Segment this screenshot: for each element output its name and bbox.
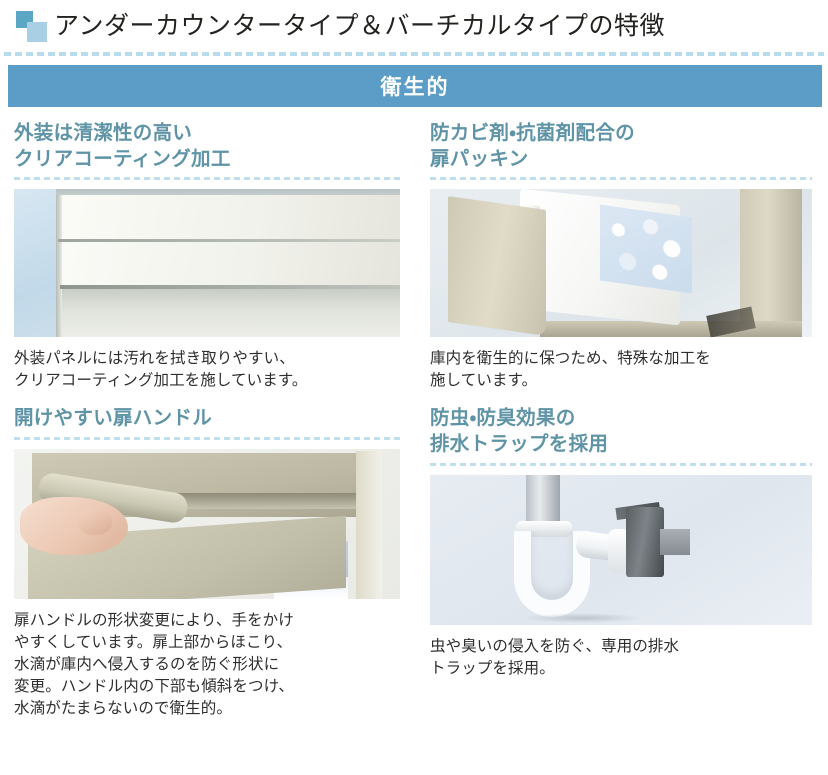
feature-caption: 外装パネルには汚れを拭き取りやすい、 クリアコーティング加工を施しています。 — [14, 348, 400, 392]
feature-caption: 虫や臭いの侵入を防ぐ、専用の排水 トラップを採用。 — [430, 636, 812, 680]
cabinet-lower-face — [62, 289, 400, 337]
feature-card-door-handle: 開けやすい扉ハンドル 扉ハンドルの形状変更により、手をかけ やすくしています。扉… — [0, 392, 418, 720]
feature-title: 開けやすい扉ハンドル — [14, 406, 400, 432]
feature-title: 防虫・防臭効果の 排水トラップを採用 — [430, 406, 812, 457]
feature-card-door-gasket: 防カビ剤・抗菌剤配合の 扉パッキン 庫内を衛生的に保つため、特殊な加工を 施して… — [418, 107, 828, 392]
hand-on-door-handle-photo — [14, 449, 400, 599]
section-banner: 衛生的 — [8, 65, 822, 107]
page-header: アンダーカウンタータイプ＆バーチカルタイプの特徴 — [0, 0, 828, 52]
feature-caption: 庫内を衛生的に保つため、特殊な加工を 施しています。 — [430, 348, 812, 392]
section-banner-label: 衛生的 — [381, 71, 450, 101]
page-title: アンダーカウンタータイプ＆バーチカルタイプの特徴 — [54, 14, 665, 39]
frost-interior-detail — [600, 205, 692, 294]
feature-dashed-divider — [430, 463, 812, 466]
feature-dashed-divider — [14, 177, 400, 180]
feature-grid: 外装は清潔性の高い クリアコーティング加工 外装パネルには汚れを拭き取りやすい、… — [0, 107, 828, 720]
feature-dashed-divider — [430, 177, 812, 180]
cabinet-right-post — [356, 451, 382, 599]
square-light — [27, 22, 47, 42]
panel-seam-lower — [60, 285, 400, 289]
photo-shadow — [522, 613, 642, 623]
feature-caption: 扉ハンドルの形状変更により、手をかけ やすくしています。扉上部からほこり、 水滴… — [14, 610, 400, 720]
cabinet-exterior-panel-photo — [14, 189, 400, 337]
mounting-bracket — [626, 507, 664, 577]
two-squares-icon — [14, 9, 48, 43]
panel-seam-upper — [58, 239, 400, 242]
fingers-photo-element — [78, 509, 112, 535]
feature-card-clear-coating: 外装は清潔性の高い クリアコーティング加工 外装パネルには汚れを拭き取りやすい、… — [0, 107, 418, 392]
open-door-gasket-photo — [430, 189, 812, 337]
hand-photo-element — [20, 497, 128, 555]
feature-title: 外装は清潔性の高い クリアコーティング加工 — [14, 121, 400, 172]
feature-card-drain-trap: 防虫・防臭効果の 排水トラップを採用 虫や臭いの侵入を防ぐ、専用の排水 トラップ… — [418, 392, 828, 720]
feature-dashed-divider — [14, 437, 400, 440]
open-door-leaf — [448, 197, 546, 337]
header-dashed-divider — [4, 52, 824, 56]
drain-trap-pipe-photo — [430, 475, 812, 625]
feature-title: 防カビ剤・抗菌剤配合の 扉パッキン — [430, 121, 812, 172]
wall-outlet-stub — [660, 529, 690, 555]
